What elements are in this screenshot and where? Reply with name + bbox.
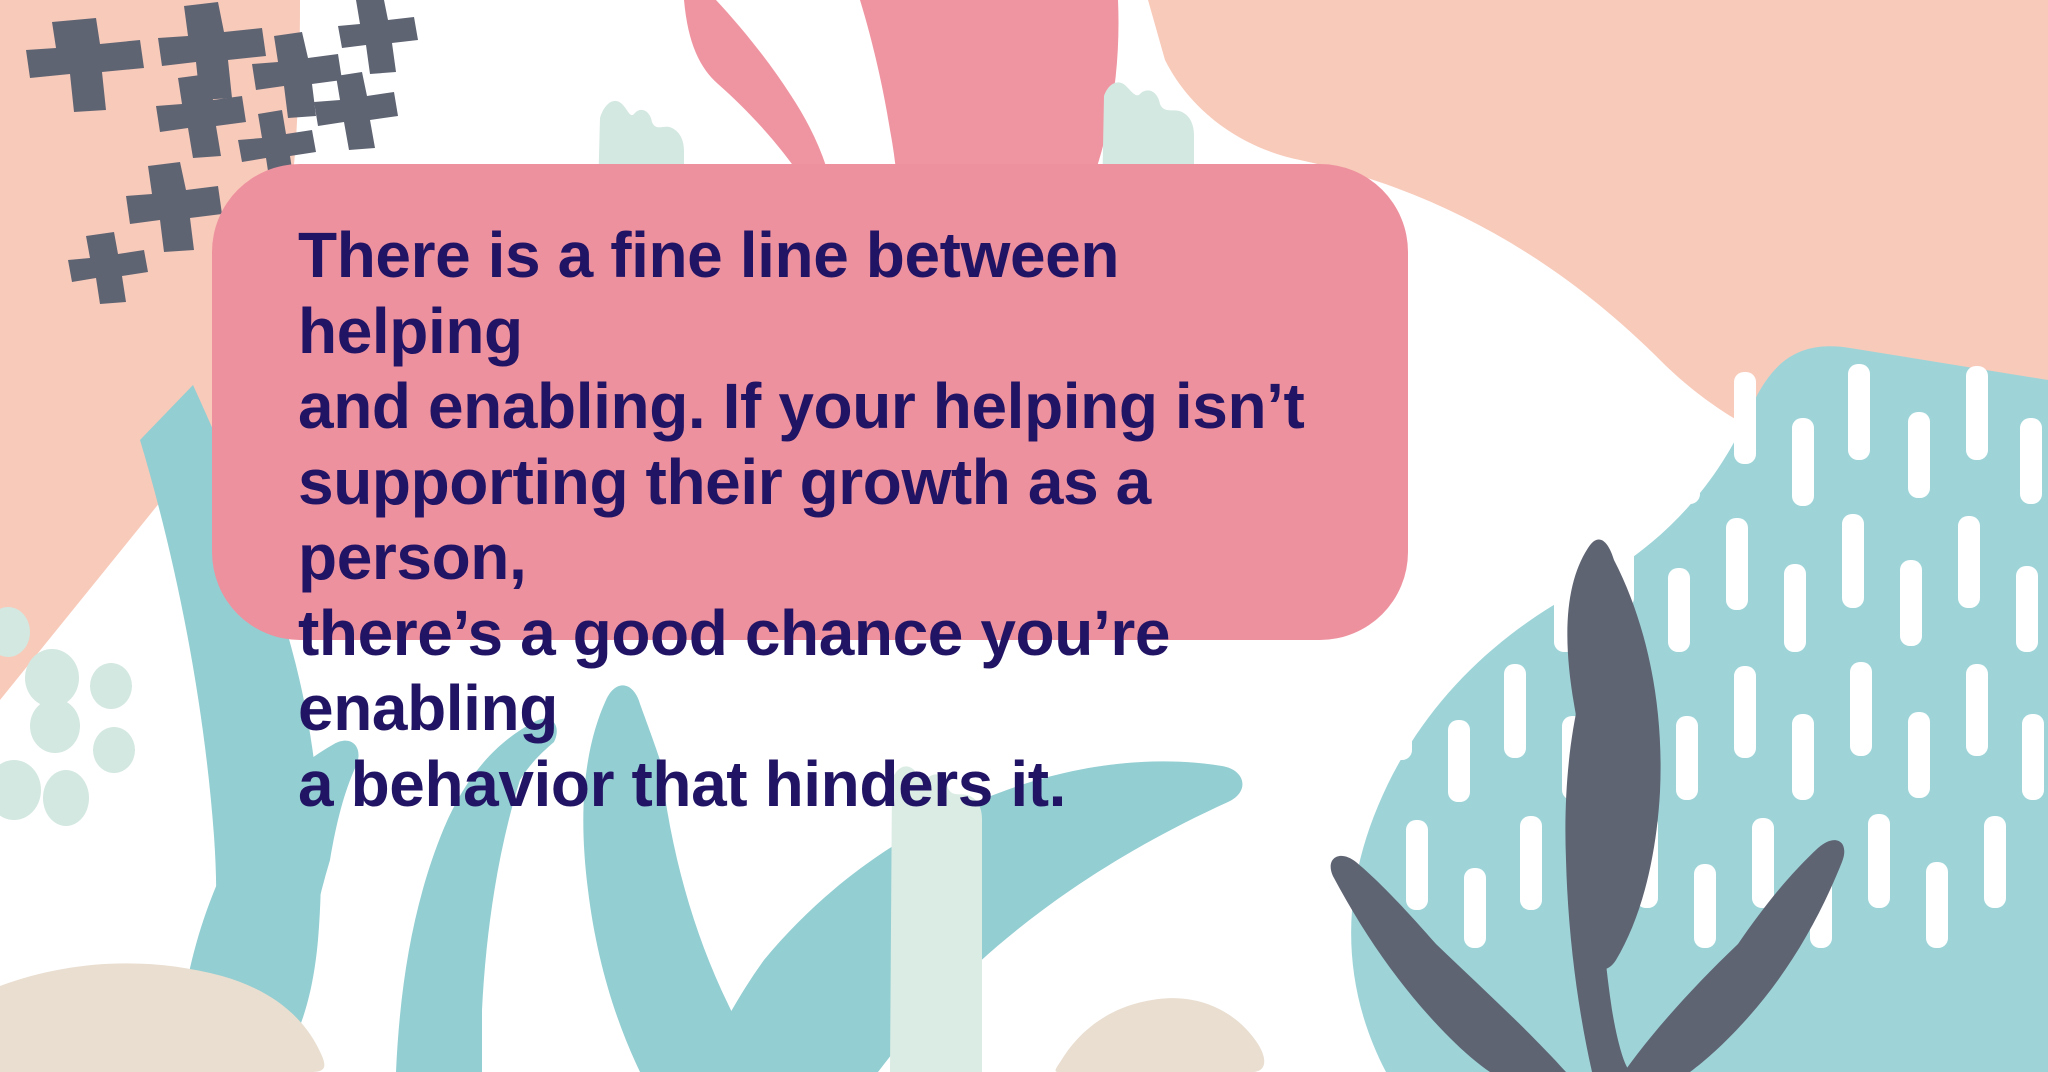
slide-canvas: There is a fine line between helping and… bbox=[0, 0, 2048, 1072]
quote-text: There is a fine line between helping and… bbox=[298, 218, 1338, 822]
mint-dot bbox=[93, 727, 135, 773]
mint-dot bbox=[43, 770, 89, 826]
mint-dot bbox=[90, 663, 132, 709]
mint-dot bbox=[30, 699, 80, 753]
mint-dot bbox=[25, 649, 79, 707]
quote-card: There is a fine line between helping and… bbox=[212, 164, 1408, 640]
